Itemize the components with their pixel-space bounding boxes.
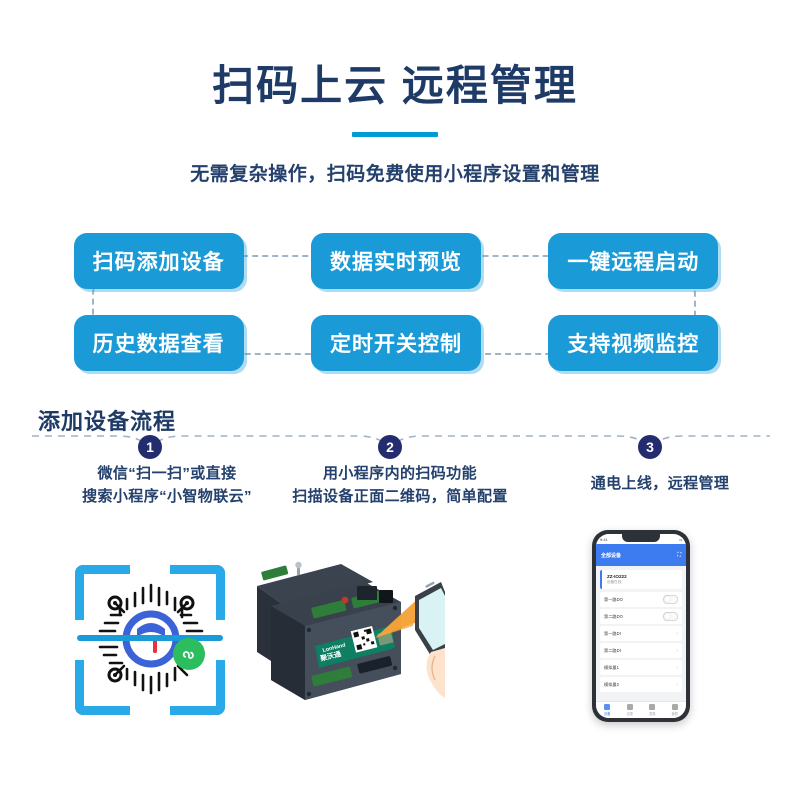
feature-button-timer-switch[interactable]: 定时开关控制: [311, 315, 481, 371]
tab-discover[interactable]: 发现: [641, 702, 664, 718]
row-label: 模拟量2: [604, 682, 619, 688]
list-item[interactable]: 模拟量2 ›: [600, 677, 682, 692]
feature-button-realtime-data[interactable]: 数据实时预览: [311, 233, 481, 289]
statusbar-time: 9:41: [600, 537, 608, 542]
chevron-right-icon: ›: [676, 682, 678, 688]
flow-step-badge-3: 3: [638, 435, 662, 459]
app-scan-icon[interactable]: ⛶: [677, 552, 681, 558]
flow-step-line1: 通电上线，远程管理: [545, 472, 775, 495]
tab-profile[interactable]: 我的: [664, 702, 687, 718]
phone-mockup: 9:41 •• 全部设备 ⛶ ZZ-IO222 设备在线 第一路DO 第二路DO: [592, 530, 690, 722]
scanning-phone-and-hand: [415, 581, 445, 698]
feature-button-scan-add-device[interactable]: 扫码添加设备: [74, 233, 244, 289]
page-title: 扫码上云 远程管理: [0, 62, 790, 110]
flow-step-badge-2: 2: [378, 435, 402, 459]
chevron-right-icon: ›: [676, 648, 678, 654]
feature-label: 扫码添加设备: [93, 246, 225, 276]
row-label: 第二路DO: [604, 614, 623, 620]
page-header: 扫码上云 远程管理 无需复杂操作，扫码免费使用小程序设置和管理: [0, 62, 790, 186]
compass-icon: [649, 704, 655, 710]
chevron-right-icon: ›: [676, 665, 678, 671]
records-icon: [627, 704, 633, 710]
tab-label: 设备: [604, 711, 610, 716]
flow-step-caption-3: 通电上线，远程管理: [545, 472, 775, 495]
feature-label: 一键远程启动: [567, 246, 699, 276]
flow-step-number: 1: [146, 439, 154, 455]
device-card[interactable]: ZZ-IO222 设备在线: [600, 570, 682, 589]
device-card-name: ZZ-IO222: [607, 574, 678, 579]
feature-label: 数据实时预览: [330, 246, 462, 276]
person-icon: [672, 704, 678, 710]
flow-step-badge-1: 1: [138, 435, 162, 459]
devices-icon: [604, 704, 610, 710]
feature-grid: 扫码添加设备 数据实时预览 一键远程启动 历史数据查看 定时开关控制 支持视频监…: [40, 233, 752, 371]
flow-captions: 微信“扫一扫”或直接 搜索小程序“小智物联云” 用小程序内的扫码功能 扫描设备正…: [0, 462, 790, 532]
list-item[interactable]: 第二路DI ›: [600, 643, 682, 658]
tab-label: 记录: [627, 711, 633, 716]
row-label: 模拟量1: [604, 665, 619, 671]
device-card-status: 设备在线: [607, 580, 678, 585]
list-item[interactable]: 第一路DO: [600, 592, 682, 607]
list-item[interactable]: 第二路DO: [600, 609, 682, 624]
feature-label: 定时开关控制: [330, 328, 462, 358]
mini-program-badge-icon: [173, 638, 205, 670]
row-label: 第一路DO: [604, 597, 623, 603]
feature-button-remote-start[interactable]: 一键远程启动: [548, 233, 718, 289]
qr-illustration: [75, 565, 225, 715]
feature-button-history-data[interactable]: 历史数据查看: [74, 315, 244, 371]
list-item[interactable]: 模拟量1 ›: [600, 660, 682, 675]
scan-line: [77, 635, 223, 641]
title-accent-rule: [352, 132, 438, 137]
feature-button-video-monitor[interactable]: 支持视频监控: [548, 315, 718, 371]
device-illustration: LonHand 聚沃通: [245, 552, 445, 712]
phone-frame: 9:41 •• 全部设备 ⛶ ZZ-IO222 设备在线 第一路DO 第二路DO: [592, 530, 690, 722]
app-header: 全部设备 ⛶: [596, 544, 686, 566]
feature-label: 历史数据查看: [93, 328, 225, 358]
row-label: 第二路DI: [604, 648, 621, 654]
flow-step-line2: 扫描设备正面二维码，简单配置: [250, 485, 550, 508]
row-label: 第一路DI: [604, 631, 621, 637]
statusbar-indicators: ••: [679, 537, 682, 542]
chevron-right-icon: ›: [676, 631, 678, 637]
row-toggle-switch[interactable]: [663, 612, 678, 621]
app-title: 全部设备: [601, 552, 621, 559]
feature-label: 支持视频监控: [567, 328, 699, 358]
flow-step-number: 2: [386, 439, 394, 455]
flow-step-number: 3: [646, 439, 654, 455]
flow-step-line1: 用小程序内的扫码功能: [250, 462, 550, 485]
list-item[interactable]: 第一路DI ›: [600, 626, 682, 641]
antenna-connector: [295, 562, 301, 575]
flow-step-caption-2: 用小程序内的扫码功能 扫描设备正面二维码，简单配置: [250, 462, 550, 509]
phone-tabbar: 设备 记录 发现 我的: [596, 701, 686, 718]
row-toggle-switch[interactable]: [663, 595, 678, 604]
tab-devices[interactable]: 设备: [596, 702, 619, 718]
tab-label: 发现: [649, 711, 655, 716]
phone-notch: [622, 534, 660, 542]
tab-records[interactable]: 记录: [619, 702, 642, 718]
tab-label: 我的: [672, 711, 678, 716]
device-channel-list: 第一路DO 第二路DO 第一路DI › 第二路DI › 模拟量1 ›: [600, 592, 682, 692]
page-subtitle: 无需复杂操作，扫码免费使用小程序设置和管理: [0, 159, 790, 186]
feature-section: 扫码添加设备 数据实时预览 一键远程启动 历史数据查看 定时开关控制 支持视频监…: [40, 233, 752, 378]
phone-screen: 9:41 •• 全部设备 ⛶ ZZ-IO222 设备在线 第一路DO 第二路DO: [596, 534, 686, 718]
